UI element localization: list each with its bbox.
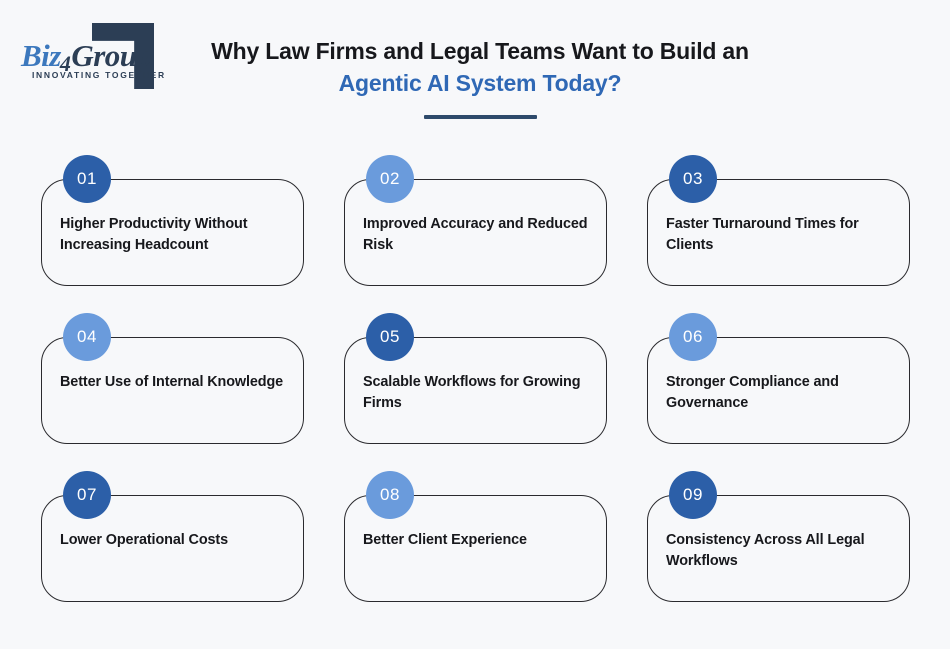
infographic-header: Biz4Group INNOVATING TOGETHER Why Law Fi… — [0, 0, 950, 132]
benefit-card-label: Better Client Experience — [363, 530, 591, 551]
benefit-card[interactable]: 02Improved Accuracy and Reduced Risk — [344, 155, 607, 286]
benefit-card-number-badge: 01 — [63, 155, 111, 203]
benefit-card-number-badge: 03 — [669, 155, 717, 203]
benefit-card-label: Higher Productivity Without Increasing H… — [60, 214, 288, 256]
benefit-card[interactable]: 07Lower Operational Costs — [41, 471, 304, 602]
logo-word-group: Group — [71, 38, 151, 73]
benefit-card-number-badge: 09 — [669, 471, 717, 519]
benefit-card-label: Better Use of Internal Knowledge — [60, 372, 288, 393]
logo-wordmark: Biz4Group — [21, 38, 152, 74]
benefit-card[interactable]: 04Better Use of Internal Knowledge — [41, 313, 304, 444]
logo-word-biz: Biz — [21, 38, 61, 73]
benefit-card-number-badge: 08 — [366, 471, 414, 519]
page-title-line-1: Why Law Firms and Legal Teams Want to Bu… — [180, 36, 780, 68]
brand-logo: Biz4Group INNOVATING TOGETHER — [18, 20, 168, 92]
title-underline-rule — [424, 115, 537, 119]
benefit-card[interactable]: 06Stronger Compliance and Governance — [647, 313, 910, 444]
benefit-card-label: Improved Accuracy and Reduced Risk — [363, 214, 591, 256]
benefit-card-label: Scalable Workflows for Growing Firms — [363, 372, 591, 414]
benefit-card-number-badge: 02 — [366, 155, 414, 203]
benefit-card-label: Consistency Across All Legal Workflows — [666, 530, 894, 572]
benefit-card-number-badge: 05 — [366, 313, 414, 361]
benefit-card[interactable]: 09Consistency Across All Legal Workflows — [647, 471, 910, 602]
page-title-line-2: Agentic AI System Today? — [180, 68, 780, 100]
benefit-card-label: Lower Operational Costs — [60, 530, 288, 551]
page-title: Why Law Firms and Legal Teams Want to Bu… — [180, 36, 780, 119]
benefit-card[interactable]: 05Scalable Workflows for Growing Firms — [344, 313, 607, 444]
benefit-card-number-badge: 06 — [669, 313, 717, 361]
benefit-card-label: Stronger Compliance and Governance — [666, 372, 894, 414]
benefit-card-number-badge: 04 — [63, 313, 111, 361]
benefit-card-label: Faster Turnaround Times for Clients — [666, 214, 894, 256]
benefit-card[interactable]: 01Higher Productivity Without Increasing… — [41, 155, 304, 286]
benefit-card[interactable]: 03Faster Turnaround Times for Clients — [647, 155, 910, 286]
benefit-card-grid: 01Higher Productivity Without Increasing… — [41, 155, 911, 602]
logo-tagline: INNOVATING TOGETHER — [32, 70, 166, 80]
benefit-card[interactable]: 08Better Client Experience — [344, 471, 607, 602]
benefit-card-number-badge: 07 — [63, 471, 111, 519]
